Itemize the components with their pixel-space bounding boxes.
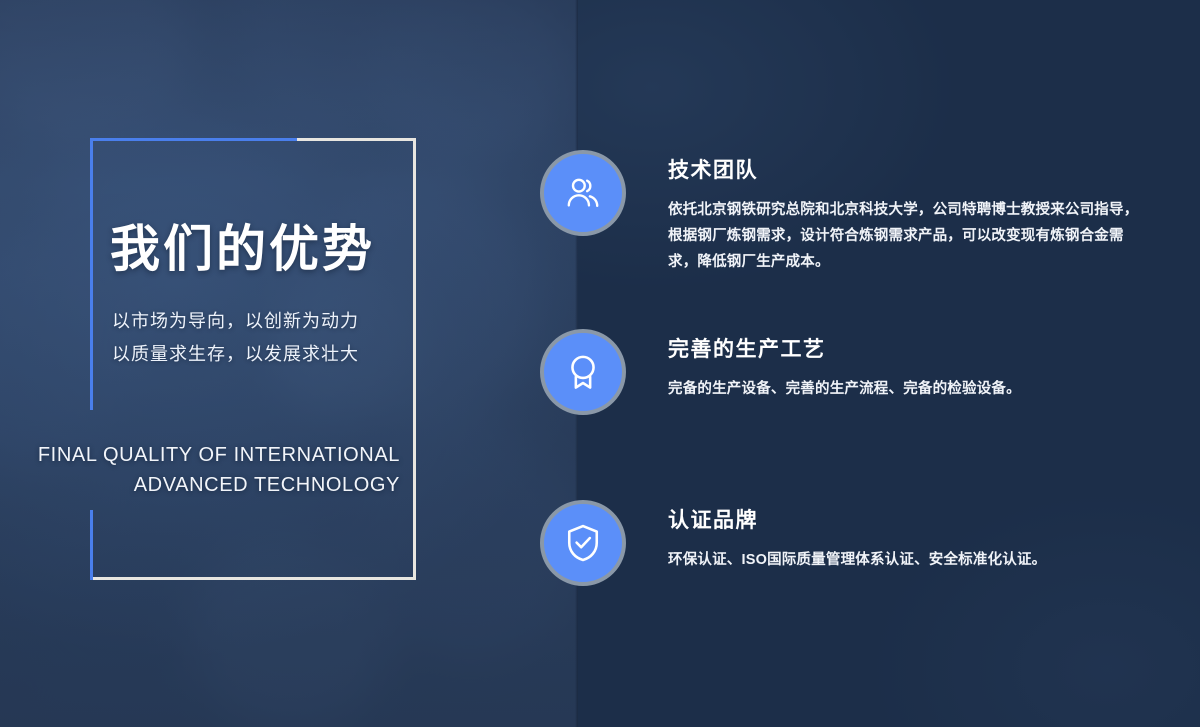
feature-title: 完善的生产工艺 bbox=[668, 333, 1160, 363]
feature-text-block: 完善的生产工艺 完备的生产设备、完善的生产流程、完备的检验设备。 bbox=[668, 329, 1160, 402]
frame-edge-left-lower bbox=[90, 510, 93, 580]
feature-item-certified-brand: 认证品牌 环保认证、ISO国际质量管理体系认证、安全标准化认证。 bbox=[540, 500, 1160, 573]
frame-edge-top-cream bbox=[297, 138, 416, 141]
english-tagline-line-1: FINAL QUALITY OF INTERNATIONAL bbox=[22, 440, 400, 470]
frame-edge-top-blue bbox=[90, 138, 297, 141]
shield-check-icon bbox=[540, 500, 626, 586]
feature-item-production-process: 完善的生产工艺 完备的生产设备、完善的生产流程、完备的检验设备。 bbox=[540, 329, 1160, 402]
frame-edge-bottom bbox=[90, 577, 416, 580]
feature-text-block: 技术团队 依托北京钢铁研究总院和北京科技大学，公司特聘博士教授来公司指导，根据钢… bbox=[668, 150, 1160, 275]
feature-description: 依托北京钢铁研究总院和北京科技大学，公司特聘博士教授来公司指导，根据钢厂炼钢需求… bbox=[668, 197, 1144, 275]
slide-root: 我们的优势 以市场为导向，以创新为动力 以质量求生存，以发展求壮大 FINAL … bbox=[0, 0, 1200, 727]
left-hero-panel: 我们的优势 以市场为导向，以创新为动力 以质量求生存，以发展求壮大 FINAL … bbox=[0, 0, 578, 727]
feature-item-technical-team: 技术团队 依托北京钢铁研究总院和北京科技大学，公司特聘博士教授来公司指导，根据钢… bbox=[540, 150, 1160, 275]
feature-title: 技术团队 bbox=[668, 154, 1160, 184]
subtitle-line-2: 以质量求生存，以发展求壮大 bbox=[112, 338, 412, 371]
english-tagline: FINAL QUALITY OF INTERNATIONAL ADVANCED … bbox=[22, 440, 400, 500]
frame-edge-left-upper bbox=[90, 138, 93, 410]
feature-description: 完备的生产设备、完善的生产流程、完备的检验设备。 bbox=[668, 376, 1144, 402]
feature-text-block: 认证品牌 环保认证、ISO国际质量管理体系认证、安全标准化认证。 bbox=[668, 500, 1160, 573]
english-tagline-line-2: ADVANCED TECHNOLOGY bbox=[22, 470, 400, 500]
users-group-icon bbox=[540, 150, 626, 236]
feature-description: 环保认证、ISO国际质量管理体系认证、安全标准化认证。 bbox=[668, 547, 1144, 573]
page-title: 我们的优势 bbox=[110, 222, 410, 277]
subtitle-line-1: 以市场为导向，以创新为动力 bbox=[112, 305, 412, 338]
features-panel: 技术团队 依托北京钢铁研究总院和北京科技大学，公司特聘博士教授来公司指导，根据钢… bbox=[578, 0, 1200, 727]
medal-award-icon bbox=[540, 329, 626, 415]
frame-edge-right bbox=[413, 138, 416, 580]
page-subtitle: 以市场为导向，以创新为动力 以质量求生存，以发展求壮大 bbox=[112, 305, 412, 371]
feature-title: 认证品牌 bbox=[668, 504, 1160, 534]
